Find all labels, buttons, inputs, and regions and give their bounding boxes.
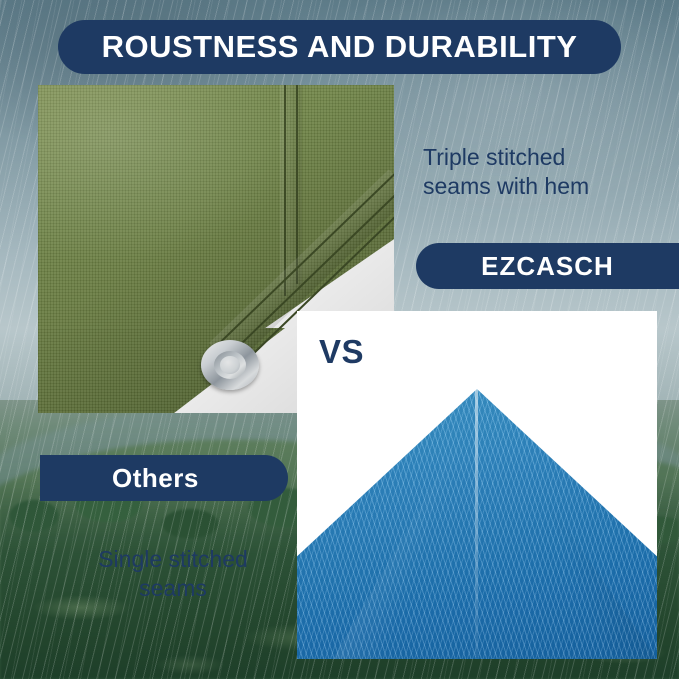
competitor-caption: Single stitched seams	[58, 545, 288, 603]
grommet-hole	[220, 356, 240, 374]
green-tarp-stitch-line-v1	[284, 85, 286, 296]
brand-pill: EZCASCH	[416, 243, 679, 289]
infographic-canvas: ROUSTNESS AND DURABILITY VS Triple stitc…	[0, 0, 679, 679]
page-title: ROUSTNESS AND DURABILITY	[102, 29, 578, 65]
blue-tarp-fold-ridge	[475, 389, 478, 657]
grommet-icon	[201, 340, 259, 390]
brand-caption-line2: seams with hem	[423, 172, 663, 201]
competitor-caption-line1: Single stitched	[58, 545, 288, 574]
green-tarp-stitch-line-v2	[296, 85, 298, 284]
competitor-pill-label: Others	[112, 463, 199, 494]
competitor-product-photo: VS	[297, 311, 657, 659]
vs-label: VS	[319, 333, 364, 371]
competitor-pill: Others	[40, 455, 288, 501]
title-banner: ROUSTNESS AND DURABILITY	[58, 20, 621, 74]
brand-pill-label: EZCASCH	[481, 251, 614, 282]
brand-caption: Triple stitched seams with hem	[423, 143, 663, 201]
brand-caption-line1: Triple stitched	[423, 143, 663, 172]
competitor-caption-line2: seams	[58, 574, 288, 603]
green-tarp-fabric	[38, 85, 394, 332]
